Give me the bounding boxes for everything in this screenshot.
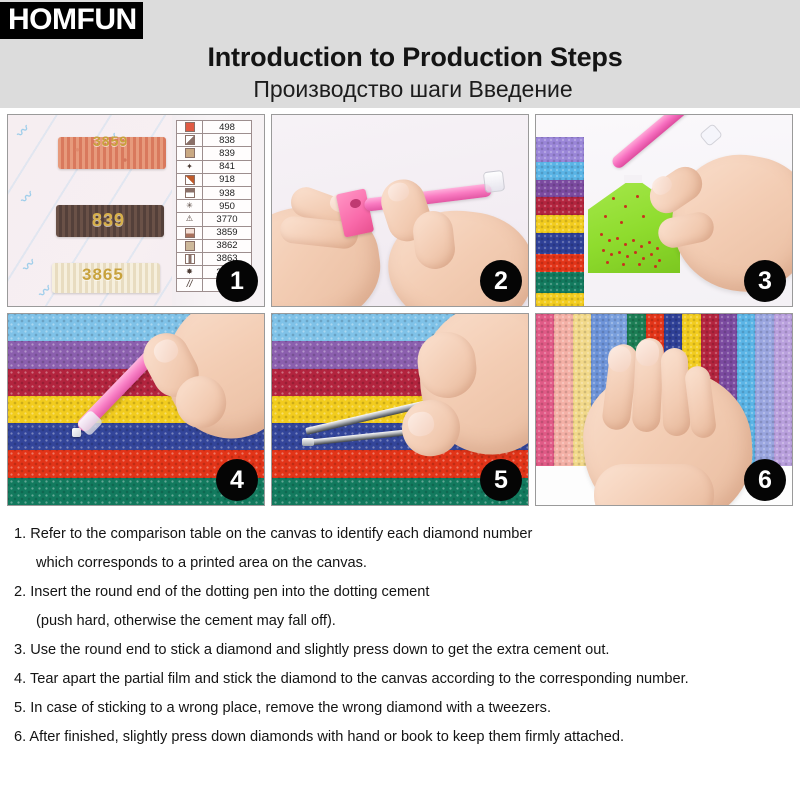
bag-label-1: 3859: [93, 133, 128, 149]
step-number-badge: 2: [480, 260, 522, 302]
symbol-cell: [177, 253, 203, 265]
diamond-on-pen-tip: [72, 428, 81, 437]
symbol-cell: [177, 147, 203, 159]
instruction-line: which corresponds to a printed area on t…: [14, 549, 786, 578]
table-row: 3859: [177, 227, 251, 240]
instruction-line: 4. Tear apart the partial film and stick…: [14, 665, 786, 694]
symbol-cell: [177, 121, 203, 133]
wrist: [594, 464, 714, 505]
symbol-cell: [177, 134, 203, 146]
bag-label-2: 839: [92, 210, 125, 231]
step-panel-6: 6: [535, 313, 793, 506]
code-cell: 839: [203, 147, 251, 159]
table-row: 838: [177, 134, 251, 147]
table-row: ✦ 841: [177, 161, 251, 174]
symbol-cell: [177, 240, 203, 252]
step-panel-5: 5: [271, 313, 529, 506]
instruction-line: 2. Insert the round end of the dotting p…: [14, 578, 786, 607]
instructions-list: 1. Refer to the comparison table on the …: [0, 512, 800, 752]
step-number-badge: 3: [744, 260, 786, 302]
step-number-badge: 1: [216, 260, 258, 302]
code-cell: 838: [203, 134, 251, 146]
instruction-line: 6. After finished, slightly press down d…: [14, 723, 786, 752]
tweezers-tip: [302, 438, 314, 446]
code-cell: 3862: [203, 240, 251, 252]
page-title: Introduction to Production Steps: [0, 42, 800, 73]
code-cell: 841: [203, 161, 251, 173]
symbol-cell: [177, 227, 203, 239]
step-number-badge: 5: [480, 459, 522, 501]
homfun-logo: HOMFUN: [0, 2, 143, 39]
step-panel-2: 2: [271, 114, 529, 307]
instruction-line: 1. Refer to the comparison table on the …: [14, 520, 786, 549]
code-cell: 938: [203, 187, 251, 199]
tray-notch: [624, 175, 642, 183]
pen-tip-clear: [483, 170, 505, 193]
code-cell: 918: [203, 174, 251, 186]
step-number-badge: 6: [744, 459, 786, 501]
bag-label-3: 3865: [82, 265, 124, 285]
symbol-cell: ⚠: [177, 213, 203, 225]
instruction-line: (push hard, otherwise the cement may fal…: [14, 607, 786, 636]
table-row: 498: [177, 121, 251, 134]
canvas-bead-texture: [536, 137, 584, 306]
step-panel-1: 〰 〰 〰 〰 〰 〰 〰 〰 3859 839 3865 498: [7, 114, 265, 307]
symbol-cell: ✦: [177, 161, 203, 173]
symbol-cell: ✸: [177, 266, 203, 278]
symbol-cell: [177, 174, 203, 186]
table-row: 938: [177, 187, 251, 200]
step-panel-3: 3: [535, 114, 793, 307]
table-row: ✳ 950: [177, 200, 251, 213]
page-subtitle-russian: Производство шаги Введение: [0, 76, 800, 103]
code-cell: 3770: [203, 213, 251, 225]
steps-image-grid: 〰 〰 〰 〰 〰 〰 〰 〰 3859 839 3865 498: [7, 114, 793, 506]
striped-canvas: [536, 137, 584, 306]
code-cell: 498: [203, 121, 251, 133]
table-row: 3862: [177, 240, 251, 253]
symbol-cell: //: [177, 279, 203, 291]
instruction-line: 3. Use the round end to stick a diamond …: [14, 636, 786, 665]
symbol-cell: ✳: [177, 200, 203, 212]
table-row: ⚠ 3770: [177, 213, 251, 226]
table-row: 839: [177, 147, 251, 160]
instruction-line: 5. In case of sticking to a wrong place,…: [14, 694, 786, 723]
symbol-cell: [177, 187, 203, 199]
step-panel-4: 4: [7, 313, 265, 506]
page-header: HOMFUN Introduction to Production Steps …: [0, 0, 800, 108]
step-number-badge: 4: [216, 459, 258, 501]
code-cell: 3859: [203, 227, 251, 239]
table-row: 918: [177, 174, 251, 187]
code-cell: 950: [203, 200, 251, 212]
